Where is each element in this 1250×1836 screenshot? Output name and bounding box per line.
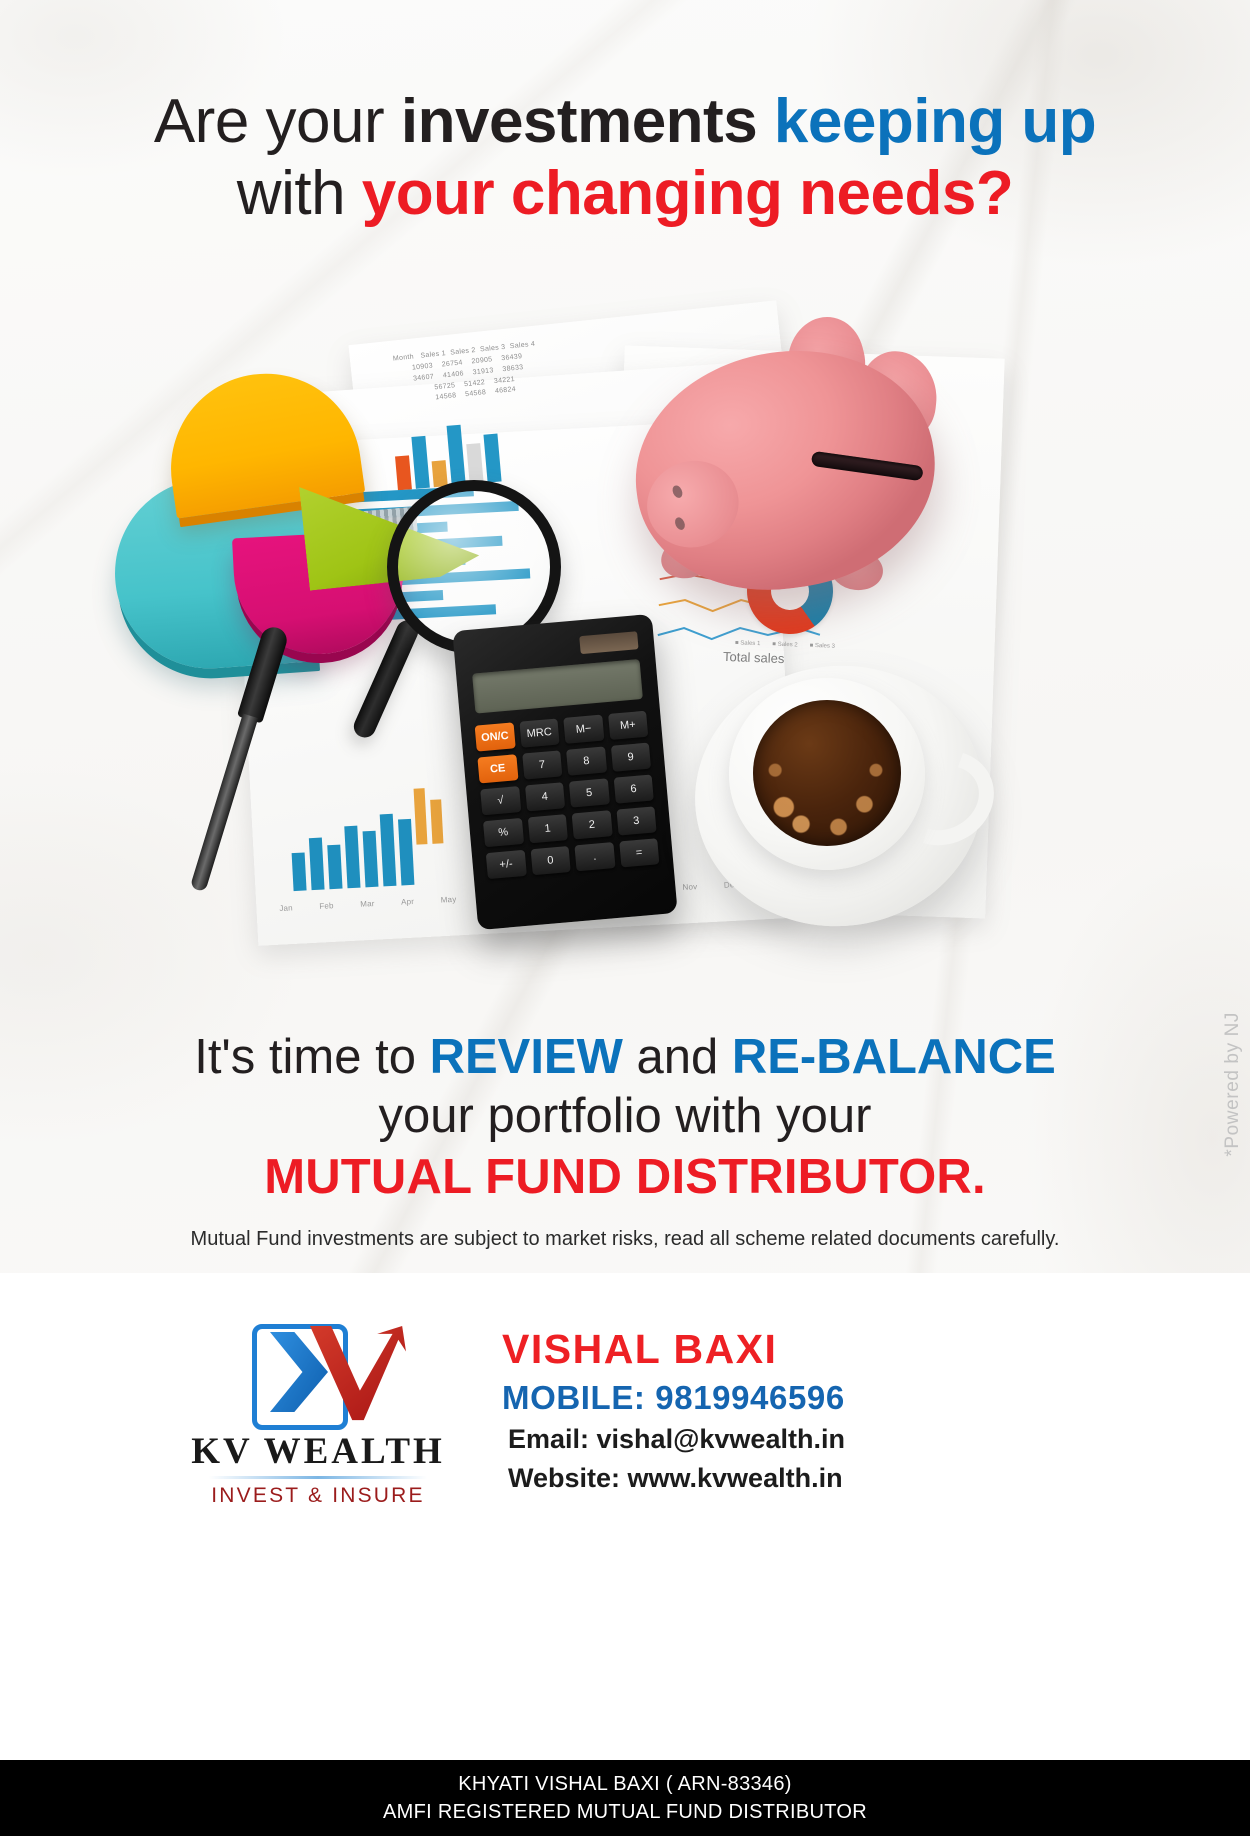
logo-divider: [209, 1476, 427, 1479]
bar-chart-orange: [414, 787, 444, 844]
logo-mark-icon: [218, 1316, 418, 1428]
poster-root: Are your investments keeping up with you…: [0, 0, 1250, 1836]
coffee-crema: [755, 702, 899, 844]
calculator-key: %: [483, 818, 524, 847]
calculator-key: 4: [525, 782, 566, 811]
footer-bar: KHYATI VISHAL BAXI ( ARN-83346) AMFI REG…: [0, 1760, 1250, 1836]
month-label: Mar: [360, 899, 375, 909]
headline-text-are-your: Are your: [154, 87, 401, 156]
month-label: May: [440, 895, 456, 905]
headline-text-investments: investments: [401, 87, 774, 156]
brand-logo: KV WEALTH INVEST & INSURE: [188, 1316, 448, 1508]
calculator-display: [472, 659, 643, 713]
calculator-key: 3: [616, 806, 657, 835]
disclaimer-text: Mutual Fund investments are subject to m…: [0, 1228, 1250, 1251]
calculator: ON/C MRC M− M+ CE 7 8 9 √ 4 5 6 % 1 2 3 …: [452, 614, 677, 930]
month-label: Jan: [279, 903, 293, 913]
headline-text-with: with: [237, 159, 362, 228]
footer-amfi-line: AMFI REGISTERED MUTUAL FUND DISTRIBUTOR: [383, 1798, 867, 1826]
subheadline-line-3: MUTUAL FUND DISTRIBUTOR.: [0, 1146, 1250, 1209]
subheadline: It's time to REVIEW and RE-BALANCE your …: [0, 1028, 1250, 1208]
calculator-key: 8: [566, 746, 607, 775]
subheadline-text-its-time-to: It's time to: [194, 1030, 429, 1084]
subheadline-text-review: REVIEW: [430, 1030, 623, 1084]
subheadline-text-and: and: [623, 1030, 732, 1084]
calculator-key: √: [480, 786, 521, 815]
calculator-key: M−: [563, 715, 604, 744]
piggy-snout: [636, 449, 750, 559]
calculator-key: 7: [522, 750, 563, 779]
calculator-key: .: [574, 842, 615, 871]
contact-details: VISHAL BAXI MOBILE: 9819946596 Email: vi…: [502, 1327, 1062, 1497]
legend-item-sales-1: ■ Sales 1: [735, 640, 761, 647]
calculator-solar-panel: [579, 631, 638, 654]
bar-chart-lower: [289, 789, 415, 891]
piggy-coin-slot: [811, 451, 924, 481]
headline-text-keeping-up: keeping up: [774, 87, 1096, 156]
headline-text-changing-needs: your changing needs?: [362, 159, 1013, 228]
calculator-key: MRC: [519, 718, 560, 747]
calculator-key: 1: [527, 814, 568, 843]
powered-by-label: *Powered by NJ: [1222, 1012, 1244, 1157]
calculator-keypad: ON/C MRC M− M+ CE 7 8 9 √ 4 5 6 % 1 2 3 …: [475, 711, 660, 879]
advisor-mobile[interactable]: MOBILE: 9819946596: [502, 1379, 1062, 1418]
pie-slice-orange: [159, 361, 366, 518]
piggy-bank: [625, 312, 955, 612]
contact-band: KV WEALTH INVEST & INSURE VISHAL BAXI MO…: [0, 1273, 1250, 1763]
subheadline-text-rebalance: RE-BALANCE: [732, 1030, 1056, 1084]
cup: [729, 678, 925, 870]
page-title: Are your investments keeping up with you…: [0, 86, 1250, 230]
calculator-key: 0: [530, 846, 571, 875]
hero-photo: Month Sales 1 Sales 2 Sales 3 Sales 4 10…: [95, 292, 1095, 992]
calculator-key: 2: [572, 810, 613, 839]
subheadline-line-1: It's time to REVIEW and RE-BALANCE: [0, 1028, 1250, 1087]
month-label: Apr: [401, 897, 415, 907]
calculator-key: M+: [608, 711, 649, 740]
logo-tagline: INVEST & INSURE: [188, 1484, 448, 1508]
pen-body: [190, 714, 259, 893]
advisor-email[interactable]: Email: vishal@kvwealth.in: [502, 1422, 1062, 1458]
coffee-liquid: [753, 700, 901, 846]
month-label: Feb: [319, 901, 334, 911]
calculator-key: CE: [477, 754, 518, 783]
logo-wordmark: KV WEALTH: [188, 1430, 448, 1473]
coffee-cup: [695, 648, 995, 948]
advisor-name: VISHAL BAXI: [502, 1327, 1062, 1373]
subheadline-line-2: your portfolio with your: [0, 1087, 1250, 1146]
headline-line-1: Are your investments keeping up: [0, 86, 1250, 158]
advisor-website[interactable]: Website: www.kvwealth.in: [502, 1461, 1062, 1497]
calculator-key: 6: [613, 774, 654, 803]
calculator-key: =: [619, 838, 660, 867]
contact-band-inner: KV WEALTH INVEST & INSURE VISHAL BAXI MO…: [0, 1297, 1250, 1527]
calculator-key: +/-: [486, 850, 527, 879]
calculator-key: 9: [610, 743, 651, 772]
footer-arn-line: KHYATI VISHAL BAXI ( ARN-83346): [458, 1770, 792, 1798]
calculator-key: 5: [569, 778, 610, 807]
calculator-key: ON/C: [475, 722, 516, 751]
headline-line-2: with your changing needs?: [0, 158, 1250, 230]
